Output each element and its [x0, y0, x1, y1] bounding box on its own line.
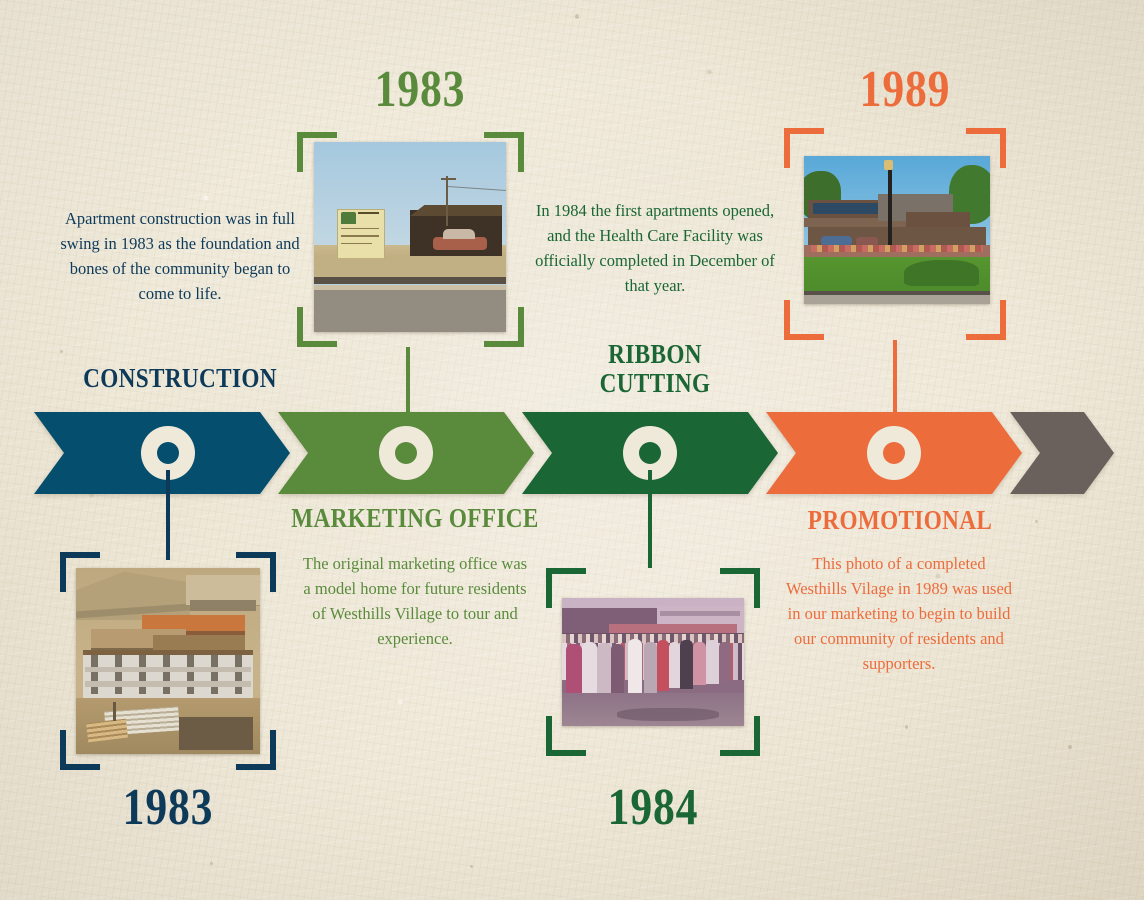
connector-line-marketing-office	[406, 347, 410, 419]
photo-westhills-village-completed[interactable]	[804, 156, 990, 304]
paper-fleck	[905, 725, 908, 729]
frame-corner-bottom-right	[966, 300, 1006, 340]
label-promotional: PROMOTIONAL	[801, 506, 999, 535]
photo-ribbon-cutting-crowd[interactable]	[562, 598, 744, 726]
label-marketing-office: MARKETING OFFICE	[290, 504, 539, 533]
connector-line-construction	[166, 470, 170, 560]
connector-line-promotional	[893, 340, 897, 419]
timeline-segment-end-cap[interactable]	[1010, 412, 1114, 494]
photo-card-marketing-office[interactable]	[297, 132, 524, 347]
description-marketing-office: The original marketing office was a mode…	[302, 551, 528, 651]
paper-fleck	[1035, 520, 1038, 523]
label-ribbon-cutting-line2: CUTTING	[560, 369, 749, 398]
description-ribbon-cutting: In 1984 the first apartments opened, and…	[535, 198, 775, 298]
label-construction: CONSTRUCTION	[64, 364, 296, 393]
year-label-promotional: 1989	[821, 60, 989, 119]
photo-apartments-under-construction[interactable]	[76, 568, 260, 754]
year-label-marketing-office: 1983	[336, 60, 504, 119]
timeline-bar	[34, 412, 1114, 494]
photo-model-home-marketing-office[interactable]	[314, 142, 506, 332]
photo-card-ribbon-cutting[interactable]	[546, 568, 760, 756]
paper-fleck	[210, 862, 213, 865]
photo-card-construction[interactable]	[60, 552, 276, 770]
paper-fleck	[470, 865, 473, 868]
label-ribbon-cutting-line1: RIBBON	[560, 340, 749, 369]
timeline-marker-promotional[interactable]	[867, 426, 921, 480]
description-construction: Apartment construction was in full swing…	[55, 206, 305, 306]
paper-fleck	[575, 14, 579, 19]
label-ribbon-cutting: RIBBON CUTTING	[560, 340, 749, 398]
connector-line-ribbon-cutting	[648, 470, 652, 568]
photo-card-promotional[interactable]	[784, 128, 1006, 340]
year-label-ribbon-cutting: 1984	[569, 778, 737, 837]
description-promotional: This photo of a completed Westhills Vila…	[785, 551, 1013, 676]
year-label-construction: 1983	[84, 778, 252, 837]
infographic-canvas: 1983 1989	[0, 0, 1144, 900]
paper-fleck	[60, 350, 63, 353]
timeline-marker-marketing-office[interactable]	[379, 426, 433, 480]
frame-corner-bottom-left	[784, 300, 824, 340]
paper-fleck	[1068, 745, 1072, 749]
